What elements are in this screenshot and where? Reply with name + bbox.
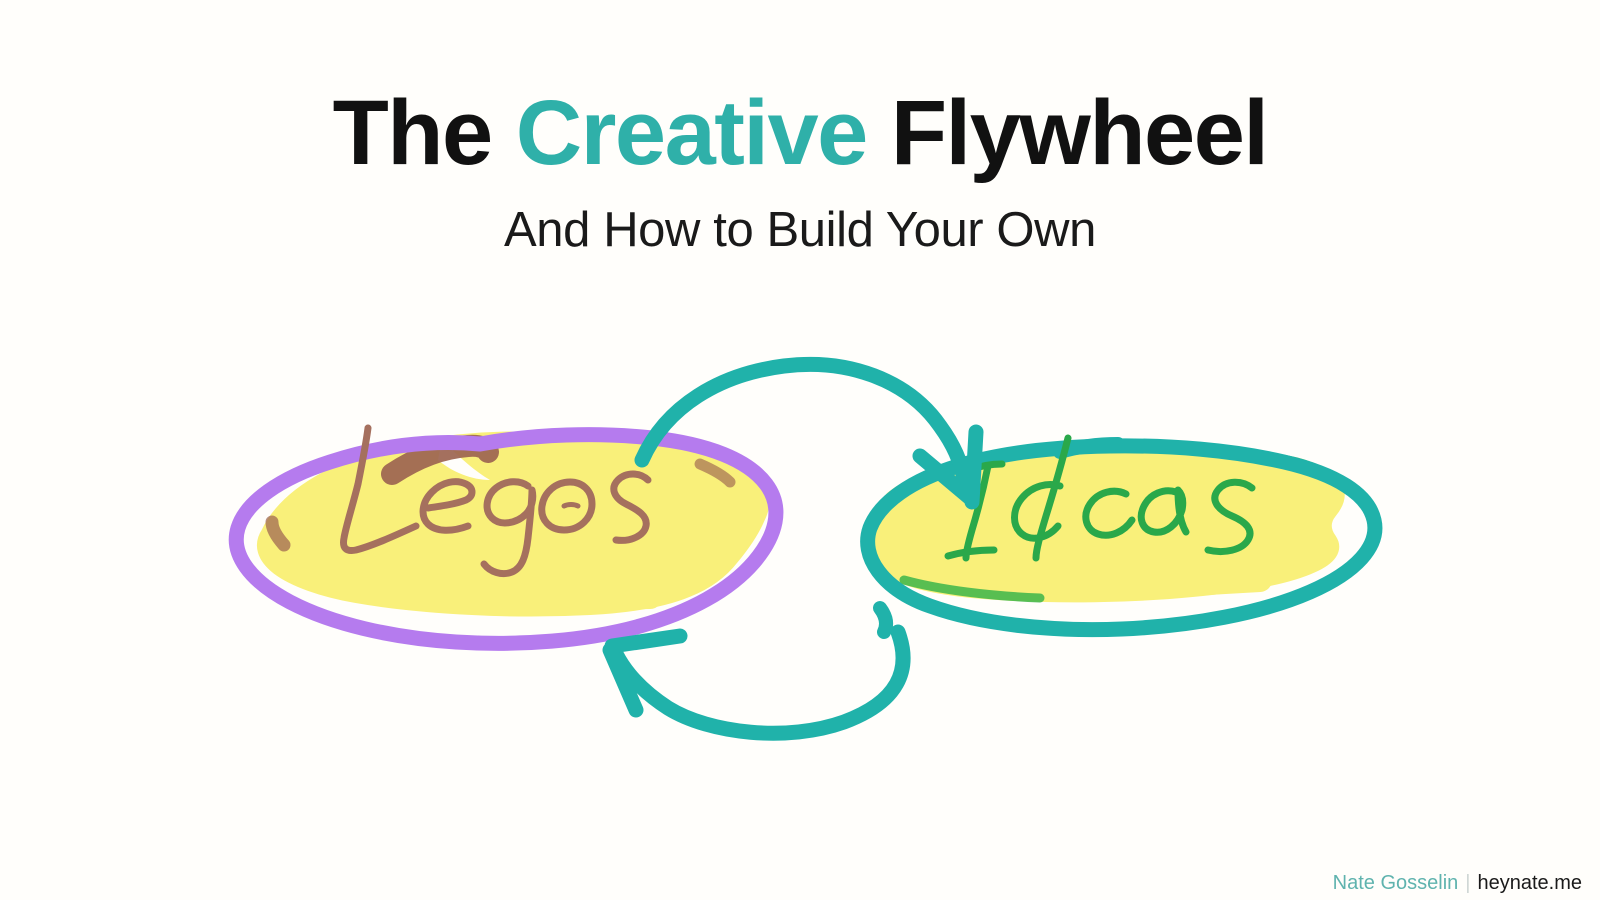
- footer-site-link[interactable]: heynate.me: [1477, 872, 1582, 894]
- arrow-ideas-to-legos: [610, 632, 903, 733]
- node-legos: [236, 435, 776, 644]
- flywheel-diagram: [180, 340, 1420, 770]
- flywheel-diagram-svg: [180, 340, 1420, 770]
- title-accent-word: Creative: [516, 82, 867, 184]
- page-title: The Creative Flywheel: [0, 86, 1600, 182]
- footer-author: Nate Gosselin: [1333, 872, 1459, 894]
- ideas-outline-tail: [880, 608, 886, 632]
- title-block: The Creative Flywheel And How to Build Y…: [0, 86, 1600, 258]
- footer-credit: Nate Gosselin|heynate.me: [0, 872, 1600, 894]
- footer-separator: |: [1458, 872, 1477, 894]
- title-part-2: Flywheel: [867, 82, 1268, 184]
- title-part-1: The: [333, 82, 516, 184]
- arrow-bottom-shaft: [616, 632, 903, 733]
- slide-canvas: The Creative Flywheel And How to Build Y…: [0, 0, 1600, 900]
- page-subtitle: And How to Build Your Own: [0, 202, 1600, 258]
